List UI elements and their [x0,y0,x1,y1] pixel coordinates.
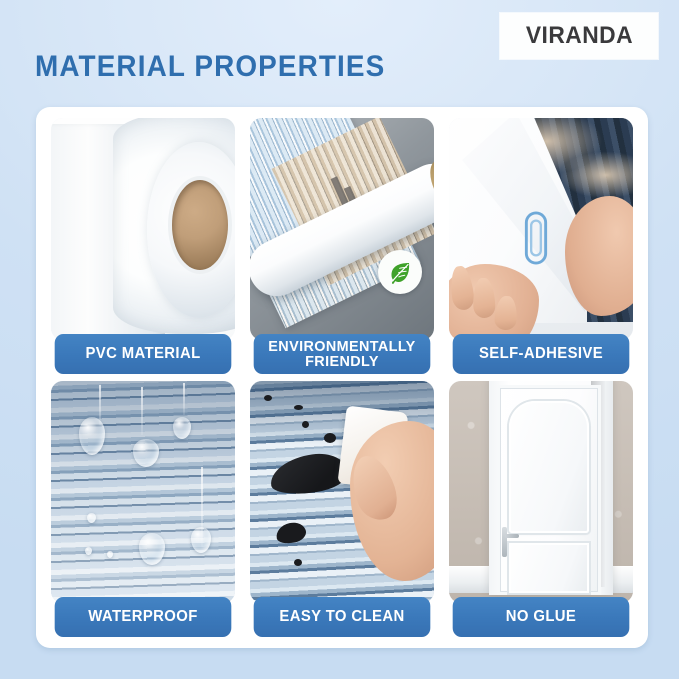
droplet-trail [141,387,143,435]
leaf-icon [386,258,414,286]
door-panel-top [509,401,589,533]
waterproof-image [51,381,235,603]
feature-cell-waterproof[interactable]: WATERPROOF [45,381,241,637]
brand-logo-text: VIRANDA [525,22,632,50]
brand-logo-box: VIRANDA [500,13,658,59]
paperclip-icon [523,210,549,266]
pvc-roll-image [51,118,235,340]
feature-cell-easy-to-clean[interactable]: EASY TO CLEAN [244,381,440,637]
pvc-cardboard-core [172,180,228,270]
infographic-root: VIRANDA MATERIAL PROPERTIES PVC MATERIAL [0,0,679,679]
self-adhesive-image [449,118,633,340]
feature-caption: NO GLUE [453,597,630,637]
stain-spot [294,405,303,410]
feature-caption: PVC MATERIAL [55,334,232,374]
feature-cell-self-adhesive[interactable]: SELF-ADHESIVE [443,118,639,374]
stain-spot [294,559,302,566]
feature-grid: PVC MATERIAL [45,118,639,637]
feature-cell-no-glue[interactable]: NO GLUE [443,381,639,637]
no-glue-image [449,381,633,603]
right-hand [565,196,633,316]
feature-caption: SELF-ADHESIVE [453,334,630,374]
surface-shading [51,381,235,603]
feature-caption: EASY TO CLEAN [254,597,431,637]
stain-spot [264,395,272,401]
door-handle [502,527,507,557]
page-title: MATERIAL PROPERTIES [35,50,385,84]
stain-spot [302,421,309,428]
easy-to-clean-image [250,381,434,603]
eco-roll-image [250,118,434,340]
feature-caption: WATERPROOF [55,597,232,637]
feature-caption: ENVIRONMENTALLY FRIENDLY [254,334,431,374]
door-panel-bottom [509,543,589,593]
stain-spot [324,433,336,443]
door-frame [489,381,613,595]
eco-leaf-badge [378,250,422,294]
thumb [345,450,403,525]
feature-cell-environmentally-friendly[interactable]: ENVIRONMENTALLY FRIENDLY [244,118,440,374]
droplet-trail [183,383,185,415]
feature-cell-pvc-material[interactable]: PVC MATERIAL [45,118,241,374]
feature-panel: PVC MATERIAL [36,107,648,648]
white-door [497,385,601,595]
